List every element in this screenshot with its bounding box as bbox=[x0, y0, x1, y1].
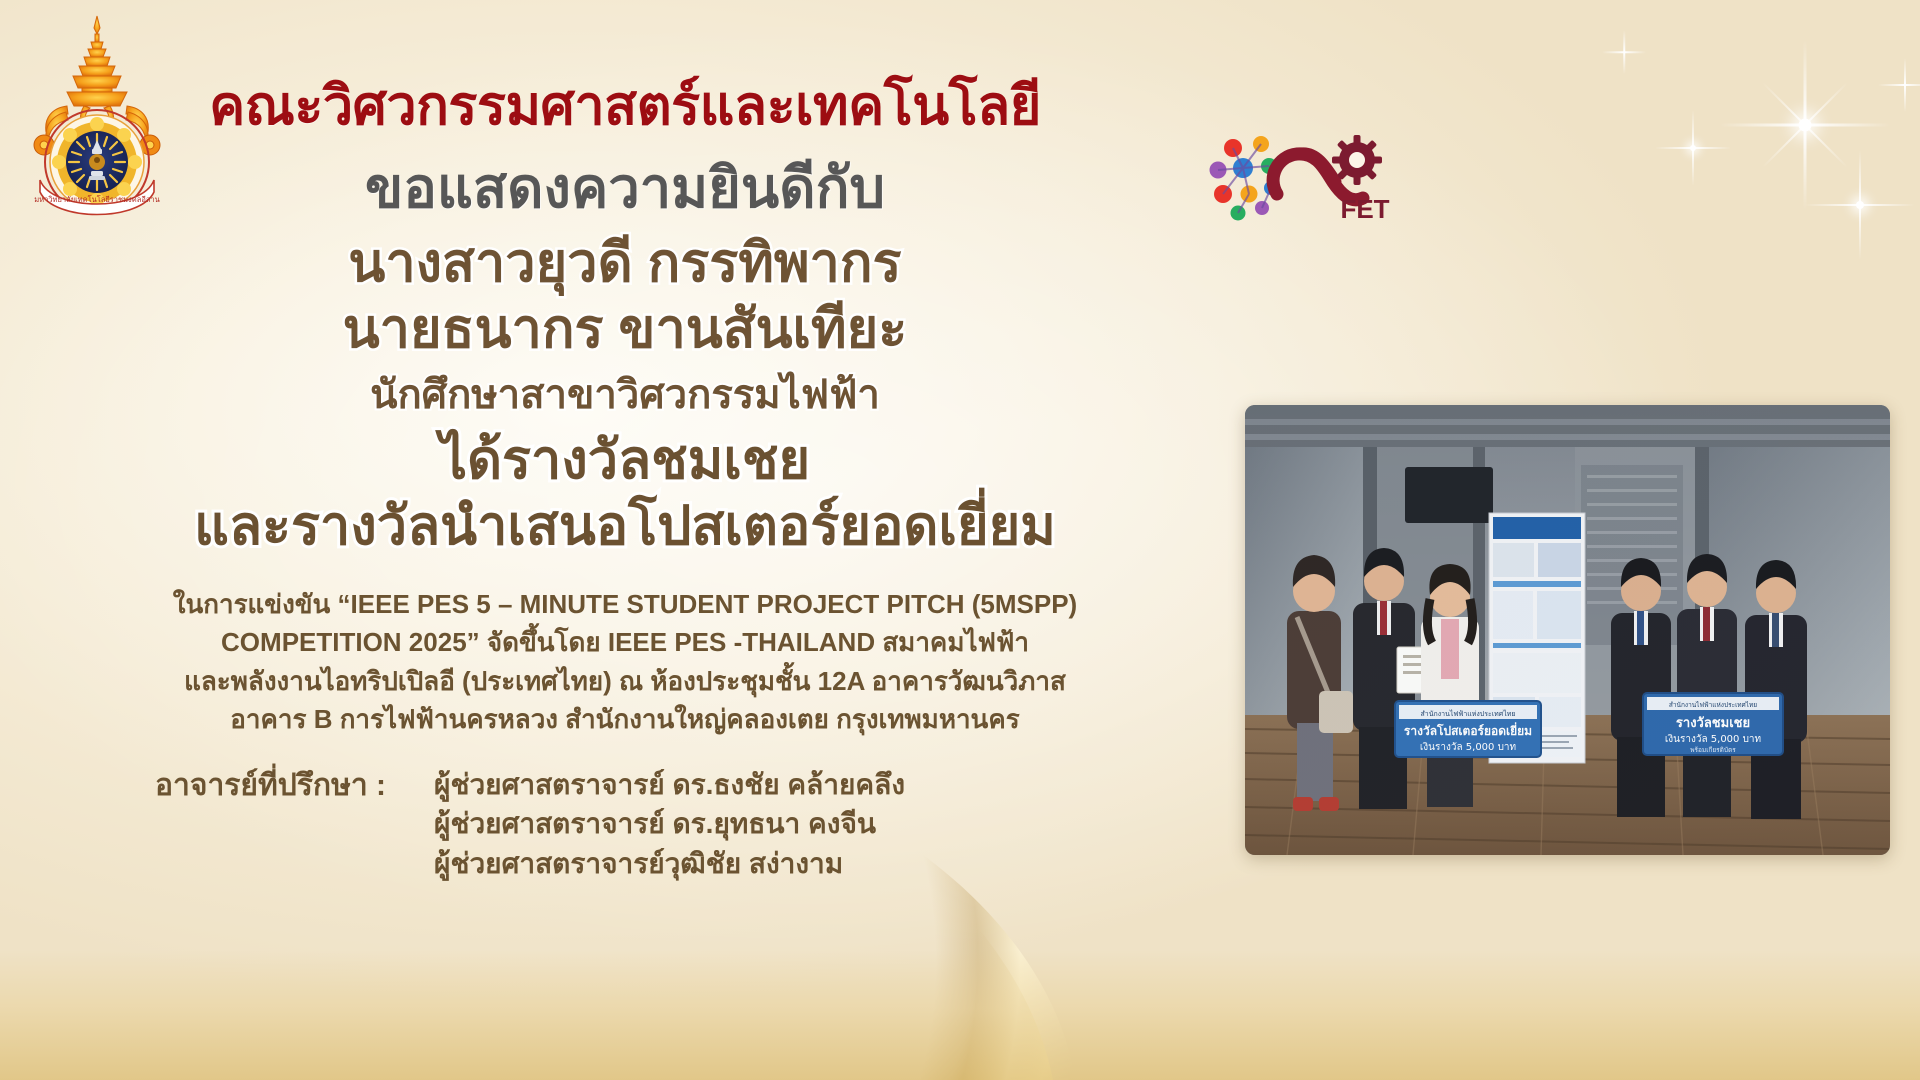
sparkle-tiny-icon-1 bbox=[1878, 58, 1920, 112]
advisor-label: อาจารย์ที่ปรึกษา : bbox=[155, 765, 386, 884]
description-line-2: COMPETITION 2025” จัดขึ้นโดย IEEE PES -T… bbox=[105, 623, 1145, 661]
advisor-2: ผู้ช่วยศาสตราจารย์ ดร.ยุทธนา คงจีน bbox=[434, 804, 905, 844]
description-line-3: และพลังงานไอทริปเปิลอี (ประเทศไทย) ณ ห้อ… bbox=[105, 662, 1145, 700]
faculty-heading: คณะวิศวกรรมศาสตร์และเทคโนโลยี bbox=[0, 78, 1250, 135]
gear-icon bbox=[1332, 135, 1382, 185]
description-line-1: ในการแข่งขัน “IEEE PES 5 – MINUTE STUDEN… bbox=[105, 585, 1145, 623]
award-line-2: และรางวัลนำเสนอโปสเตอร์ยอดเยี่ยม bbox=[0, 495, 1250, 559]
student-name-2: นายธนากร ขานสันเทียะ bbox=[0, 297, 1250, 363]
advisor-1: ผู้ช่วยศาสตราจารย์ ดร.ธงชัย คล้ายคลึง bbox=[434, 765, 905, 805]
competition-description: ในการแข่งขัน “IEEE PES 5 – MINUTE STUDEN… bbox=[0, 585, 1250, 739]
sparkle-small-icon bbox=[1655, 110, 1731, 186]
award-ceremony-photo: สำนักงานไฟฟ้าแห่งประเทศไทย รางวัลโปสเตอร… bbox=[1245, 405, 1890, 855]
award-line-1: ได้รางวัลชมเชย bbox=[0, 429, 1250, 493]
student-name-1: นางสาวยุวดี กรรทิพากร bbox=[0, 231, 1250, 297]
announcement-content: คณะวิศวกรรมศาสตร์และเทคโนโลยี ขอแสดงความ… bbox=[0, 0, 1250, 884]
advisor-list: ผู้ช่วยศาสตราจารย์ ดร.ธงชัย คล้ายคลึง ผู… bbox=[434, 765, 905, 884]
advisors-section: อาจารย์ที่ปรึกษา : ผู้ช่วยศาสตราจารย์ ดร… bbox=[0, 765, 1250, 884]
fet-logo-label: FET bbox=[1340, 194, 1389, 224]
sparkle-medium-icon bbox=[1805, 150, 1915, 260]
congratulations-heading: ขอแสดงความยินดีกับ bbox=[0, 159, 1250, 218]
student-department: นักศึกษาสาขาวิศวกรรมไฟฟ้า bbox=[0, 371, 1250, 419]
advisor-3: ผู้ช่วยศาสตราจารย์วุฒิชัย สง่างาม bbox=[434, 844, 905, 884]
description-line-4: อาคาร B การไฟฟ้านครหลวง สำนักงานใหญ่คลอง… bbox=[105, 700, 1145, 738]
sparkle-tiny-icon-2 bbox=[1602, 30, 1646, 74]
